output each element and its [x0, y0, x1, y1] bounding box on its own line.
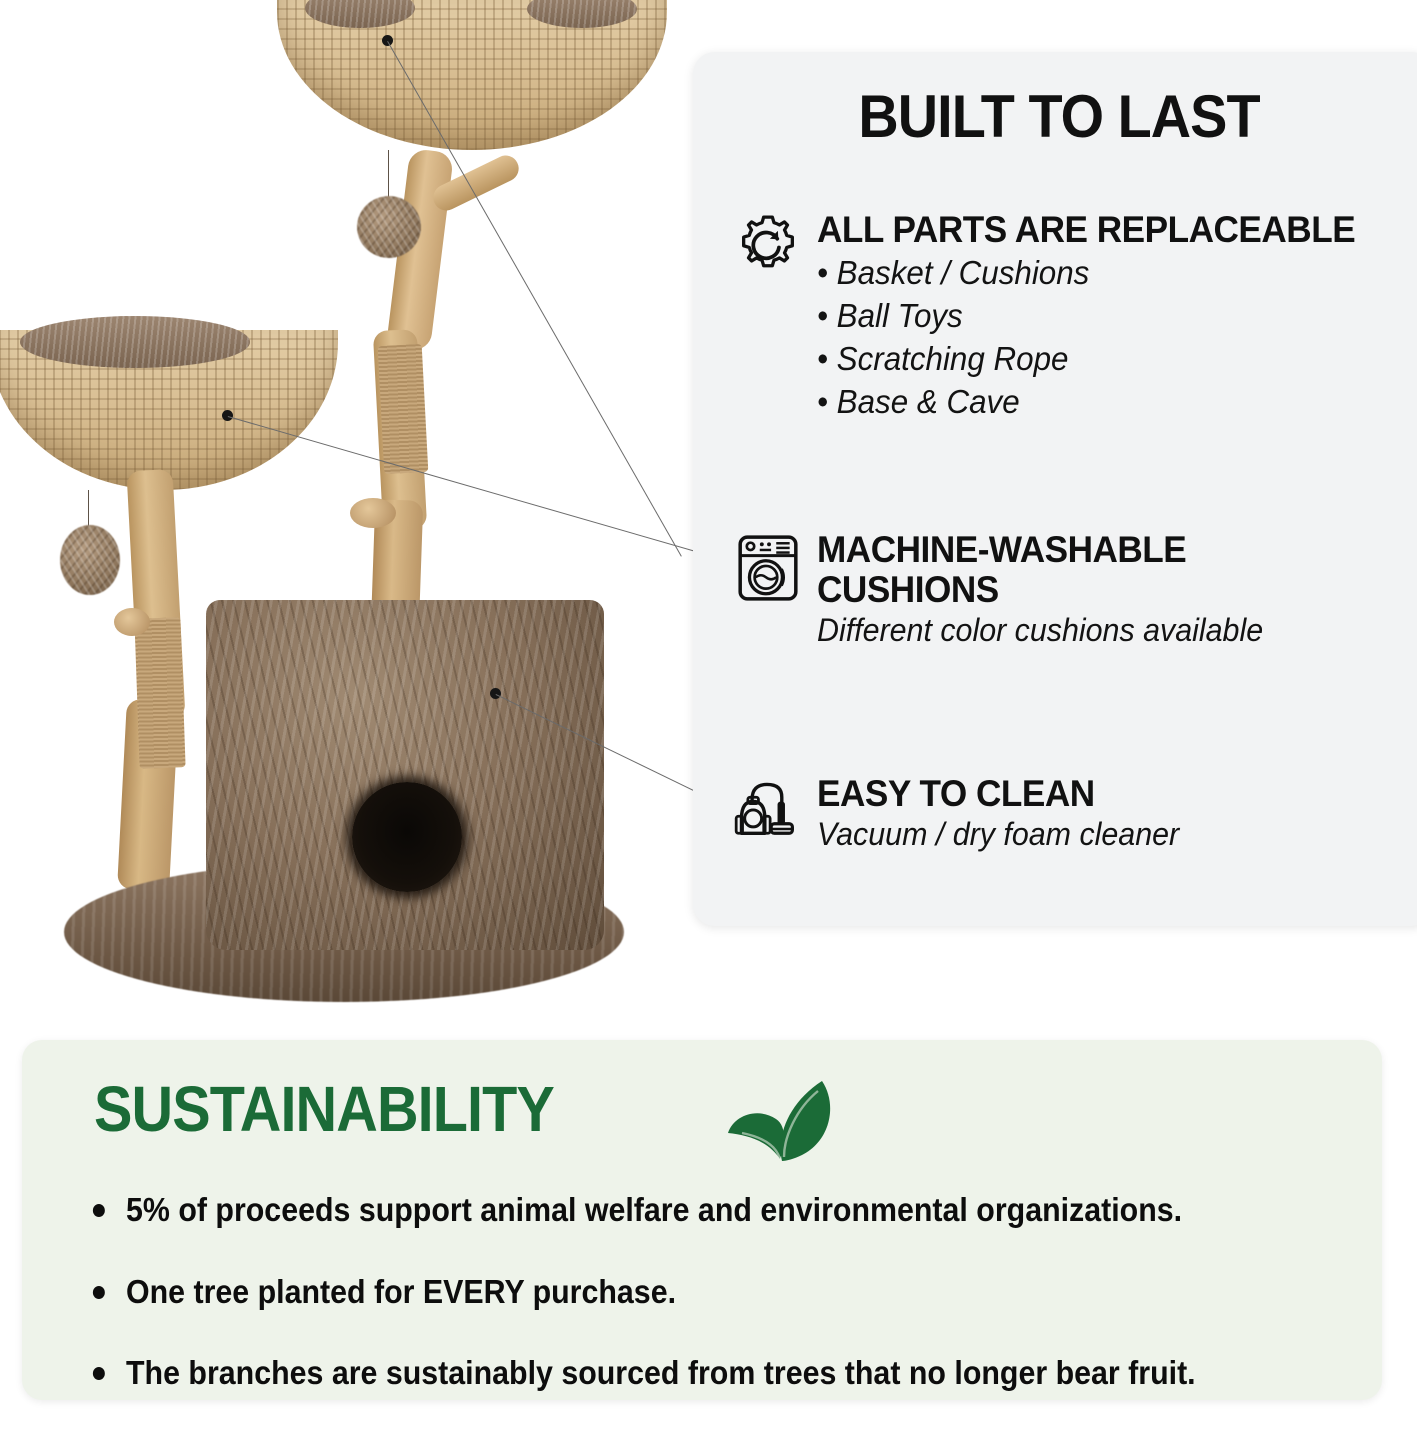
mid-basket — [0, 330, 338, 490]
list-item: One tree planted for EVERY purchase. — [80, 1272, 1267, 1312]
list-item-label: One tree planted for EVERY purchase. — [126, 1273, 676, 1310]
feature-easy-clean-heading: EASY TO CLEAN — [817, 774, 1179, 814]
feature-washable-heading-line2: CUSHIONS — [817, 570, 1263, 610]
bullet-dot — [93, 1286, 105, 1299]
top-basket — [277, 0, 667, 150]
branch-stub-knot — [350, 498, 396, 528]
gear-refresh-icon — [729, 210, 807, 424]
feature-easy-to-clean: EASY TO CLEAN Vacuum / dry foam cleaner — [729, 774, 1198, 855]
feature-washable-sub: Different color cushions available — [817, 610, 1263, 651]
list-item: • Base & Cave — [817, 381, 1355, 424]
bullet-dot — [93, 1204, 105, 1217]
list-item: • Scratching Rope — [817, 338, 1355, 381]
leaf-sprout-icon — [718, 1075, 846, 1172]
list-item: The branches are sustainably sourced fro… — [80, 1353, 1267, 1393]
feature-replaceable-body: ALL PARTS ARE REPLACEABLE • Basket / Cus… — [807, 210, 1384, 424]
feature-replaceable-heading: ALL PARTS ARE REPLACEABLE — [817, 210, 1355, 250]
card-title: BUILT TO LAST — [799, 82, 1320, 151]
built-to-last-card: BUILT TO LAST ALL PARTS ARE REPLACEABLE … — [693, 52, 1417, 926]
cat-tree-product-photo — [0, 0, 700, 1030]
cave-entrance — [352, 782, 462, 892]
infographic-root: BUILT TO LAST ALL PARTS ARE REPLACEABLE … — [0, 0, 1417, 1417]
feature-machine-washable-body: MACHINE-WASHABLE CUSHIONS Different colo… — [807, 530, 1287, 651]
scratching-rope-mid — [134, 617, 185, 769]
feature-easy-clean-body: EASY TO CLEAN Vacuum / dry foam cleaner — [807, 774, 1198, 855]
list-item-label: 5% of proceeds support animal welfare an… — [126, 1191, 1182, 1228]
vacuum-cleaner-icon — [729, 774, 807, 855]
mid-pom-toy — [60, 525, 120, 595]
washing-machine-icon — [729, 530, 807, 651]
mid-basket-fur-edge — [20, 316, 250, 368]
bullet-dot — [93, 1367, 105, 1380]
top-pom-toy — [357, 196, 421, 258]
feature-easy-clean-sub: Vacuum / dry foam cleaner — [817, 814, 1179, 855]
list-item: • Ball Toys — [817, 295, 1355, 338]
sustainability-title: SUSTAINABILITY — [94, 1072, 554, 1146]
list-item: • Basket / Cushions — [817, 252, 1355, 295]
fur-cave — [206, 600, 604, 950]
sustainability-card: SUSTAINABILITY 5% of proceeds support an… — [22, 1040, 1382, 1400]
feature-washable-heading-line1: MACHINE-WASHABLE — [817, 530, 1263, 570]
scratching-rope-main — [378, 344, 429, 474]
list-item-label: The branches are sustainably sourced fro… — [126, 1354, 1196, 1391]
feature-machine-washable: MACHINE-WASHABLE CUSHIONS Different colo… — [729, 530, 1287, 651]
sustainability-bullet-list: 5% of proceeds support animal welfare an… — [80, 1190, 1370, 1435]
feature-replaceable-parts: ALL PARTS ARE REPLACEABLE • Basket / Cus… — [729, 210, 1384, 424]
list-item: 5% of proceeds support animal welfare an… — [80, 1190, 1267, 1230]
replaceable-parts-list: • Basket / Cushions • Ball Toys • Scratc… — [817, 252, 1384, 424]
mid-branch-knot — [114, 608, 150, 636]
